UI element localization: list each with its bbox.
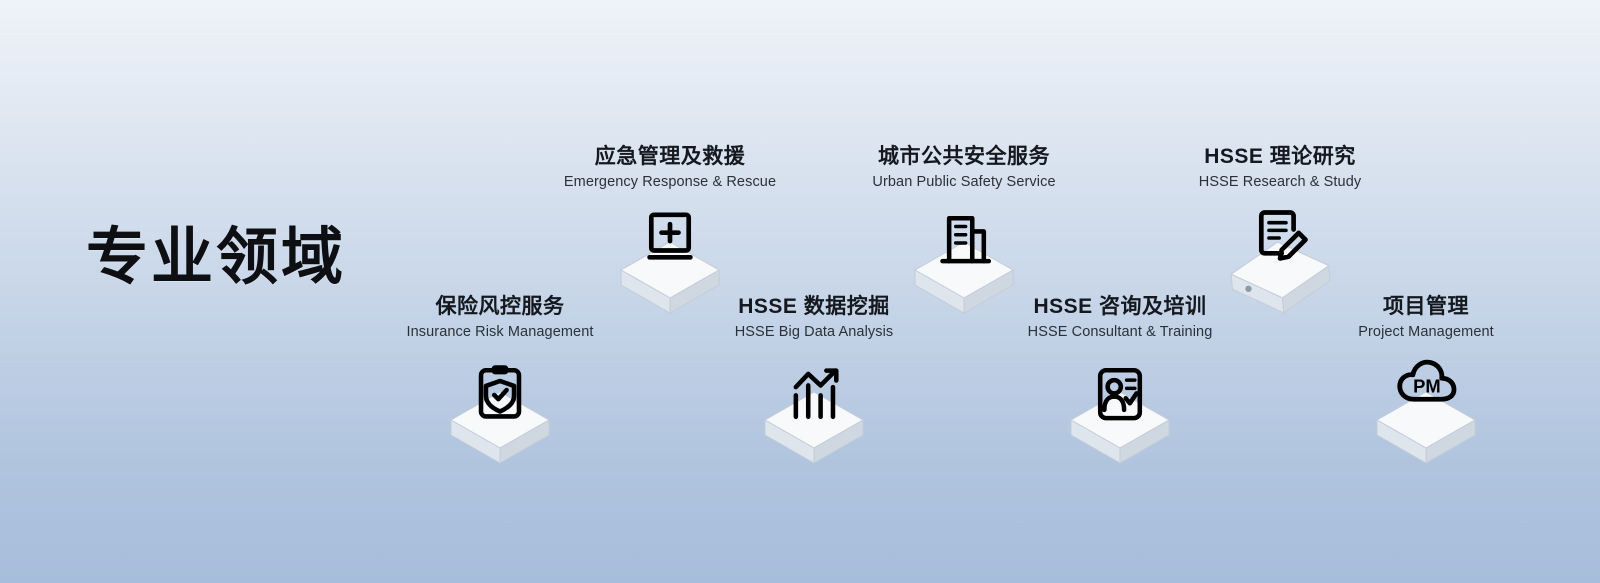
page-title: 专业领域 — [86, 222, 346, 293]
domain-figure — [350, 348, 650, 478]
domain-label-cn: 城市公共安全服务 — [814, 144, 1114, 170]
medical-cross-monitor-icon — [631, 198, 709, 276]
domain-label-en: Insurance Risk Management — [350, 323, 650, 342]
cloud-pm-icon: PM — [1387, 344, 1465, 422]
domain-labels: 保险风控服务 Insurance Risk Management — [350, 294, 650, 342]
domain-item-hsse-consultant-training[interactable]: HSSE 咨询及培训 HSSE Consultant & Training — [970, 294, 1270, 478]
domain-label-en: Urban Public Safety Service — [814, 173, 1114, 192]
domain-figure — [664, 348, 964, 478]
domain-label-en: HSSE Consultant & Training — [970, 323, 1270, 342]
domain-label-en: Emergency Response & Rescue — [520, 173, 820, 192]
domain-label-en: HSSE Research & Study — [1130, 173, 1430, 192]
domain-item-project-management[interactable]: 项目管理 Project Management PM — [1276, 294, 1576, 478]
domain-label-cn: HSSE 数据挖掘 — [664, 294, 964, 320]
domain-label-cn: 保险风控服务 — [350, 294, 650, 320]
domain-label-cn: HSSE 咨询及培训 — [970, 294, 1270, 320]
domain-labels: 项目管理 Project Management — [1276, 294, 1576, 342]
domain-item-insurance-risk-management[interactable]: 保险风控服务 Insurance Risk Management — [350, 294, 650, 478]
domain-labels: 应急管理及救援 Emergency Response & Rescue — [520, 144, 820, 192]
domain-label-cn: 项目管理 — [1276, 294, 1576, 320]
domain-labels: HSSE 数据挖掘 HSSE Big Data Analysis — [664, 294, 964, 342]
domain-label-en: Project Management — [1276, 323, 1576, 342]
domain-labels: HSSE 咨询及培训 HSSE Consultant & Training — [970, 294, 1270, 342]
domain-figure: PM — [1276, 348, 1576, 478]
domain-item-hsse-big-data-analysis[interactable]: HSSE 数据挖掘 HSSE Big Data Analysis — [664, 294, 964, 478]
domain-figure — [970, 348, 1270, 478]
clipboard-shield-check-icon — [461, 350, 539, 428]
domain-labels: HSSE 理论研究 HSSE Research & Study — [1130, 144, 1430, 192]
domain-label-cn: 应急管理及救援 — [520, 144, 820, 170]
domain-labels: 城市公共安全服务 Urban Public Safety Service — [814, 144, 1114, 192]
professional-domains-banner: 专业领域 应急管理及救援 Emergency Response & Rescue — [0, 0, 1600, 583]
document-pencil-icon — [1241, 194, 1319, 272]
cloud-icon-text: PM — [1413, 375, 1441, 396]
domain-label-en: HSSE Big Data Analysis — [664, 323, 964, 342]
domain-label-cn: HSSE 理论研究 — [1130, 144, 1430, 170]
city-buildings-icon — [925, 198, 1003, 276]
person-id-card-check-icon — [1081, 350, 1159, 428]
bar-chart-trend-arrow-icon — [775, 352, 853, 430]
